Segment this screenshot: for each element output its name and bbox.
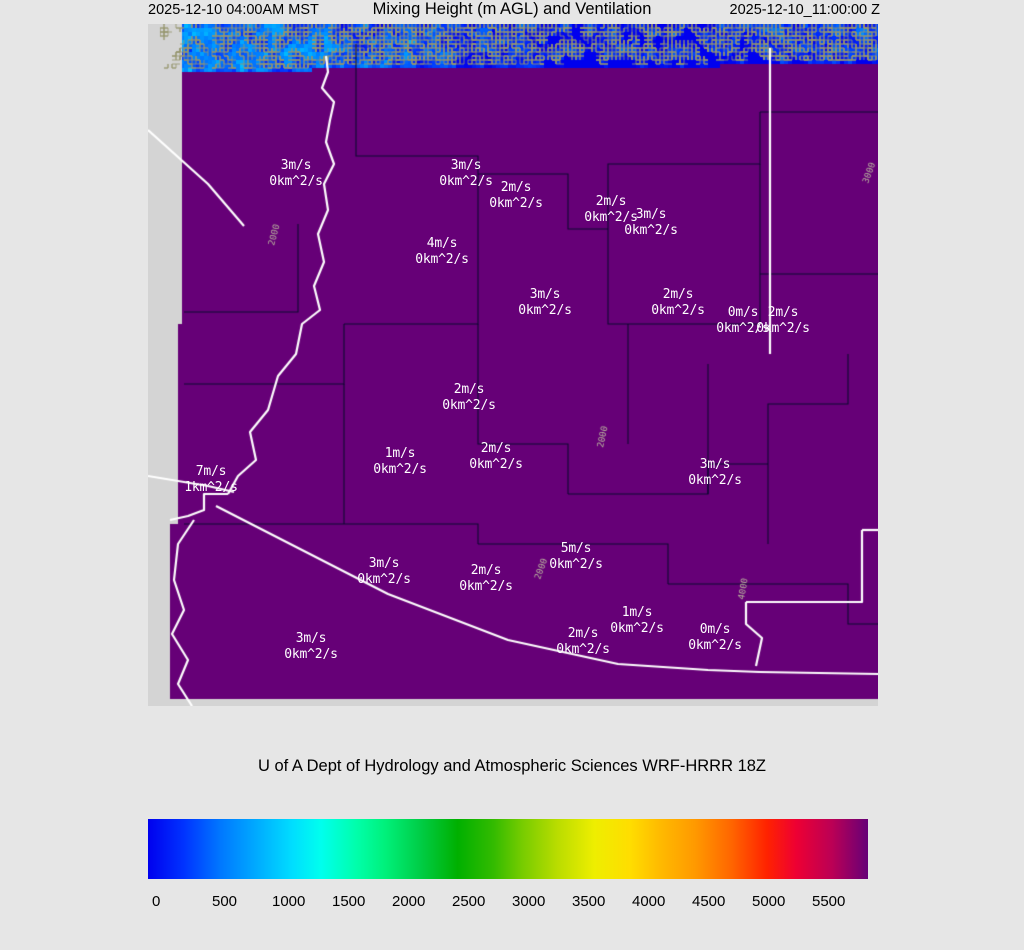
colorbar-gradient bbox=[148, 819, 868, 879]
station-label: 7m/s1km^2/s bbox=[184, 464, 237, 495]
ventilation-value: 0km^2/s bbox=[459, 579, 512, 595]
ventilation-value: 0km^2/s bbox=[756, 321, 809, 337]
wind-speed-value: 2m/s bbox=[459, 563, 512, 579]
station-label: 3m/s0km^2/s bbox=[688, 457, 741, 488]
station-label: 5m/s0km^2/s bbox=[549, 541, 602, 572]
ventilation-value: 0km^2/s bbox=[269, 174, 322, 190]
station-label: 0m/s0km^2/s bbox=[688, 622, 741, 653]
ventilation-value: 1km^2/s bbox=[184, 480, 237, 496]
colorbar-tick-5500: 5500 bbox=[812, 893, 845, 910]
ventilation-value: 0km^2/s bbox=[624, 223, 677, 239]
colorbar-tick-0: 0 bbox=[152, 893, 160, 910]
station-label: 2m/s0km^2/s bbox=[459, 563, 512, 594]
colorbar-tick-3500: 3500 bbox=[572, 893, 605, 910]
station-label: 1m/s0km^2/s bbox=[373, 446, 426, 477]
wind-speed-value: 2m/s bbox=[469, 441, 522, 457]
wind-speed-value: 7m/s bbox=[184, 464, 237, 480]
ventilation-value: 0km^2/s bbox=[357, 572, 410, 588]
wind-speed-value: 1m/s bbox=[610, 605, 663, 621]
wind-speed-value: 2m/s bbox=[489, 180, 542, 196]
wind-speed-value: 2m/s bbox=[442, 382, 495, 398]
station-label: 3m/s0km^2/s bbox=[518, 287, 571, 318]
station-label: 2m/s0km^2/s bbox=[442, 382, 495, 413]
wind-speed-value: 2m/s bbox=[556, 626, 609, 642]
wind-speed-value: 3m/s bbox=[284, 631, 337, 647]
station-label: 4m/s0km^2/s bbox=[415, 236, 468, 267]
model-caption: U of A Dept of Hydrology and Atmospheric… bbox=[0, 757, 1024, 776]
wind-speed-value: 3m/s bbox=[518, 287, 571, 303]
ventilation-value: 0km^2/s bbox=[284, 647, 337, 663]
wind-speed-value: 3m/s bbox=[439, 158, 492, 174]
ventilation-value: 0km^2/s bbox=[469, 457, 522, 473]
station-label: 3m/s0km^2/s bbox=[284, 631, 337, 662]
colorbar-tick-2000: 2000 bbox=[392, 893, 425, 910]
colorbar-tick-1500: 1500 bbox=[332, 893, 365, 910]
station-label: 3m/s0km^2/s bbox=[269, 158, 322, 189]
wind-speed-value: 3m/s bbox=[269, 158, 322, 174]
wind-speed-value: 1m/s bbox=[373, 446, 426, 462]
station-label: 3m/s0km^2/s bbox=[624, 207, 677, 238]
ventilation-value: 0km^2/s bbox=[442, 398, 495, 414]
station-label: 2m/s0km^2/s bbox=[489, 180, 542, 211]
wind-speed-value: 5m/s bbox=[549, 541, 602, 557]
colorbar-container bbox=[148, 819, 868, 879]
wind-speed-value: 3m/s bbox=[624, 207, 677, 223]
colorbar-tick-2500: 2500 bbox=[452, 893, 485, 910]
colorbar-tick-1000: 1000 bbox=[272, 893, 305, 910]
station-label: 3m/s0km^2/s bbox=[439, 158, 492, 189]
wind-speed-value: 0m/s bbox=[688, 622, 741, 638]
ventilation-value: 0km^2/s bbox=[549, 557, 602, 573]
ventilation-value: 0km^2/s bbox=[439, 174, 492, 190]
colorbar-tick-3000: 3000 bbox=[512, 893, 545, 910]
ventilation-value: 0km^2/s bbox=[415, 252, 468, 268]
ventilation-value: 0km^2/s bbox=[688, 638, 741, 654]
wind-speed-value: 2m/s bbox=[756, 305, 809, 321]
station-label-layer: 3m/s0km^2/s3m/s0km^2/s2m/s0km^2/s2m/s0km… bbox=[148, 24, 878, 706]
wind-speed-value: 3m/s bbox=[688, 457, 741, 473]
wind-speed-value: 4m/s bbox=[415, 236, 468, 252]
ventilation-value: 0km^2/s bbox=[688, 473, 741, 489]
ventilation-value: 0km^2/s bbox=[518, 303, 571, 319]
colorbar-tick-500: 500 bbox=[212, 893, 237, 910]
colorbar-tick-labels: 0500100015002000250030003500400045005000… bbox=[148, 893, 908, 917]
station-label: 2m/s0km^2/s bbox=[469, 441, 522, 472]
colorbar-tick-4500: 4500 bbox=[692, 893, 725, 910]
ventilation-value: 0km^2/s bbox=[373, 462, 426, 478]
colorbar-tick-4000: 4000 bbox=[632, 893, 665, 910]
ventilation-value: 0km^2/s bbox=[556, 642, 609, 658]
valid-time-label: 2025-12-10_11:00:00 Z bbox=[730, 2, 881, 18]
chart-header: 2025-12-10 04:00AM MST Mixing Height (m … bbox=[0, 0, 1024, 24]
station-label: 2m/s0km^2/s bbox=[756, 305, 809, 336]
ventilation-value: 0km^2/s bbox=[651, 303, 704, 319]
wind-speed-value: 3m/s bbox=[357, 556, 410, 572]
colorbar-tick-5000: 5000 bbox=[752, 893, 785, 910]
ventilation-value: 0km^2/s bbox=[610, 621, 663, 637]
ventilation-value: 0km^2/s bbox=[489, 196, 542, 212]
station-label: 2m/s0km^2/s bbox=[651, 287, 704, 318]
wind-speed-value: 2m/s bbox=[651, 287, 704, 303]
map-panel[interactable]: 3m/s0km^2/s3m/s0km^2/s2m/s0km^2/s2m/s0km… bbox=[148, 24, 878, 706]
station-label: 1m/s0km^2/s bbox=[610, 605, 663, 636]
station-label: 3m/s0km^2/s bbox=[357, 556, 410, 587]
station-label: 2m/s0km^2/s bbox=[556, 626, 609, 657]
